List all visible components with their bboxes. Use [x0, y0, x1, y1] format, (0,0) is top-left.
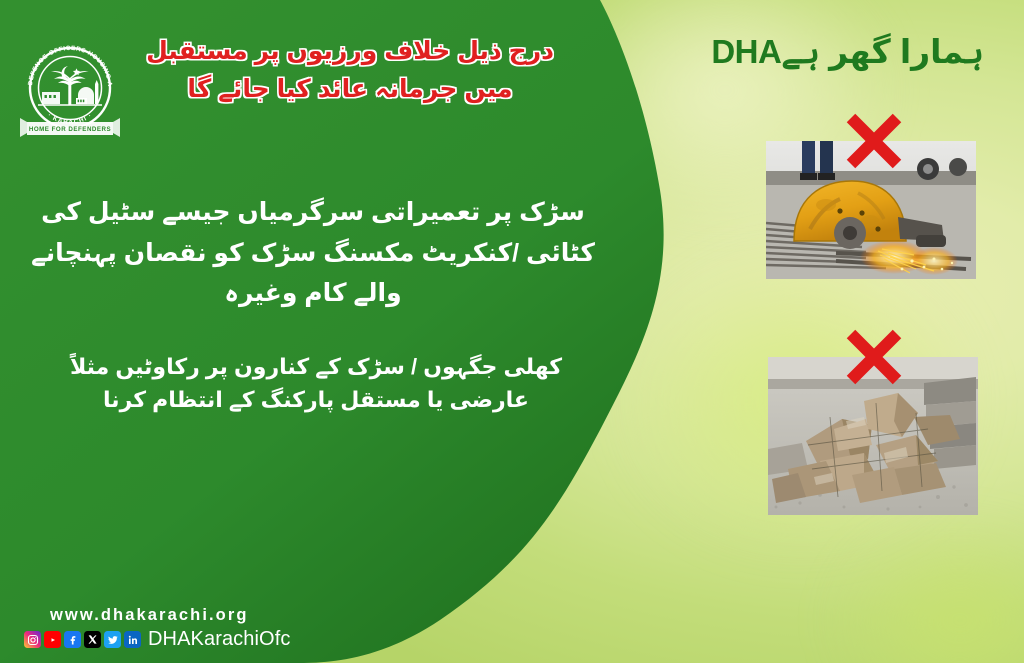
photo-steel-cutting-saw — [766, 141, 976, 279]
list-item: کھلی جگہوں / سڑک کے کنارون پر رکاوٹیں مث… — [16, 350, 616, 416]
twitter-icon[interactable] — [104, 631, 121, 648]
headline: درج ذیل خلاف ورزیوں پر مستقبل میں جرمانہ… — [120, 32, 580, 108]
poster-canvas: PAKISTAN DEFENCE OFFICERS HOUSING AUTHOR… — [0, 0, 1024, 663]
photo-stone-blocks-obstruction — [768, 357, 978, 515]
dha-tagline-brand: DHA — [711, 33, 781, 70]
dha-tagline-urdu: ہمارا گھر ہے — [781, 33, 984, 70]
dha-tagline: ہمارا گھر ہےDHA — [711, 32, 990, 71]
facebook-icon[interactable] — [64, 631, 81, 648]
linkedin-icon[interactable] — [124, 631, 141, 648]
list-item: سڑک پر تعمیراتی سرگرمیاں جیسے سٹیل کی کٹ… — [16, 192, 616, 314]
background-glow-bottom — [830, 520, 1024, 663]
dha-logo: PAKISTAN DEFENCE OFFICERS HOUSING AUTHOR… — [18, 26, 122, 142]
website-url[interactable]: www.dhakarachi.org — [24, 606, 354, 625]
social-handle[interactable]: DHAKarachiOfc — [148, 628, 290, 651]
violations-list: سڑک پر تعمیراتی سرگرمیاں جیسے سٹیل کی کٹ… — [16, 192, 616, 442]
social-links: DHAKarachiOfc — [24, 628, 354, 651]
bullet-1-text: سڑک پر تعمیراتی سرگرمیاں جیسے سٹیل کی کٹ… — [31, 198, 595, 307]
logo-ribbon-text: HOME FOR DEFENDERS — [29, 126, 111, 133]
instagram-icon[interactable] — [24, 631, 41, 648]
bullet-2-text: کھلی جگہوں / سڑک کے کنارون پر رکاوٹیں مث… — [70, 354, 562, 412]
footer: www.dhakarachi.org — [24, 606, 354, 651]
logo-inner-scene — [38, 66, 102, 105]
headline-line-2: میں جرمانہ عائد کیا جائے گا — [120, 70, 580, 108]
youtube-icon[interactable] — [44, 631, 61, 648]
x-twitter-icon[interactable] — [84, 631, 101, 648]
headline-line-1: درج ذیل خلاف ورزیوں پر مستقبل — [120, 32, 580, 70]
